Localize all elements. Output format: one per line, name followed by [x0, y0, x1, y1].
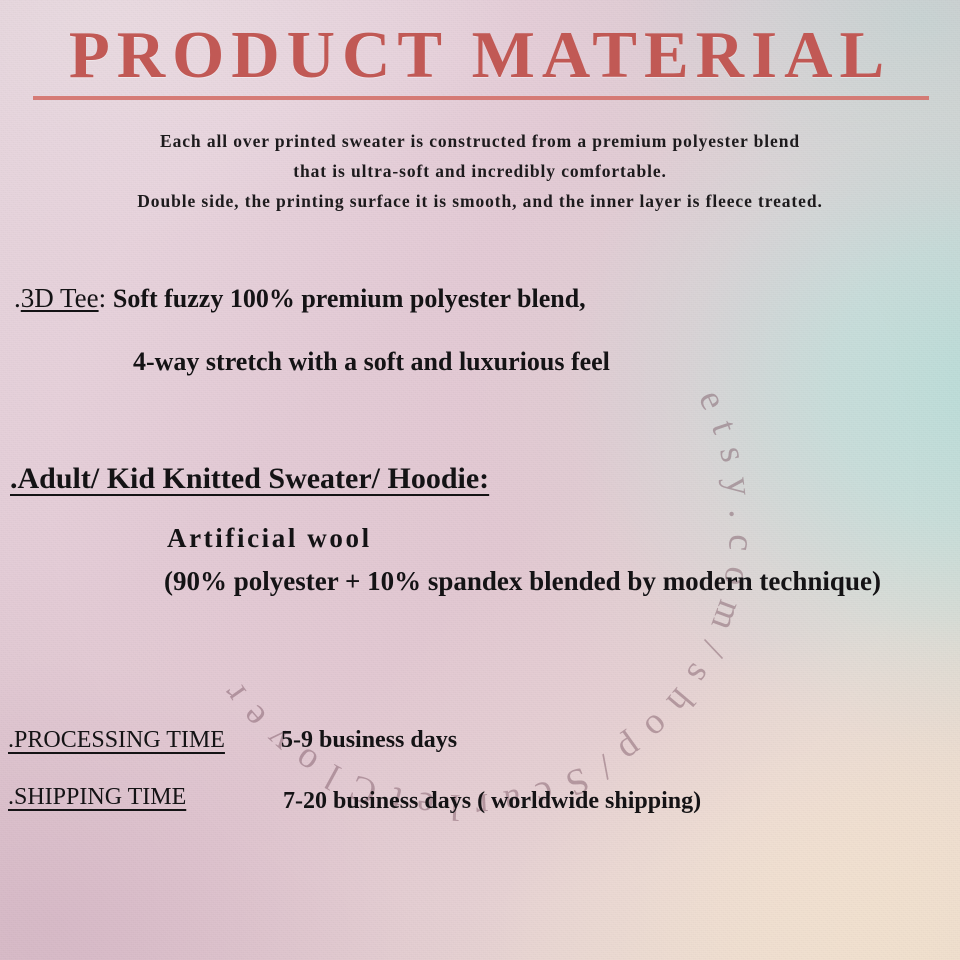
knit-section-heading: .Adult/ Kid Knitted Sweater/ Hoodie:: [10, 462, 489, 496]
intro-line-1: Each all over printed sweater is constru…: [0, 126, 960, 156]
intro-line-3: Double side, the printing surface it is …: [0, 186, 960, 216]
knit-composition-line: (90% polyester + 10% spandex blended by …: [164, 566, 881, 597]
page-title: PRODUCT MATERIAL: [63, 22, 897, 98]
page-title-container: PRODUCT MATERIAL: [0, 22, 960, 98]
tee-description: Soft fuzzy 100% premium polyester blend,: [113, 284, 586, 313]
shipping-time-value: 7-20 business days ( worldwide shipping): [283, 788, 701, 815]
poster-content: PRODUCT MATERIAL Each all over printed s…: [0, 0, 960, 960]
tee-prefix-dot: .: [14, 283, 21, 313]
intro-paragraph: Each all over printed sweater is constru…: [0, 126, 960, 216]
intro-line-2: that is ultra-soft and incredibly comfor…: [0, 156, 960, 186]
shipping-time-label: .SHIPPING TIME: [8, 784, 186, 811]
processing-time-label: .PROCESSING TIME: [8, 727, 225, 754]
product-material-poster: etsy.com/shop/ScarletCloverDesigns PRODU…: [0, 0, 960, 960]
processing-time-value: 5-9 business days: [281, 727, 457, 754]
knit-material-line: Artificial wool: [167, 523, 372, 554]
tee-heading: .3D Tee:: [14, 283, 113, 313]
tee-heading-label: 3D Tee: [21, 283, 99, 313]
tee-section-line-2: 4-way stretch with a soft and luxurious …: [133, 347, 610, 377]
tee-section-line-1: .3D Tee: Soft fuzzy 100% premium polyest…: [14, 283, 586, 314]
title-underline-rule: [33, 96, 929, 100]
tee-heading-colon: :: [99, 283, 113, 313]
